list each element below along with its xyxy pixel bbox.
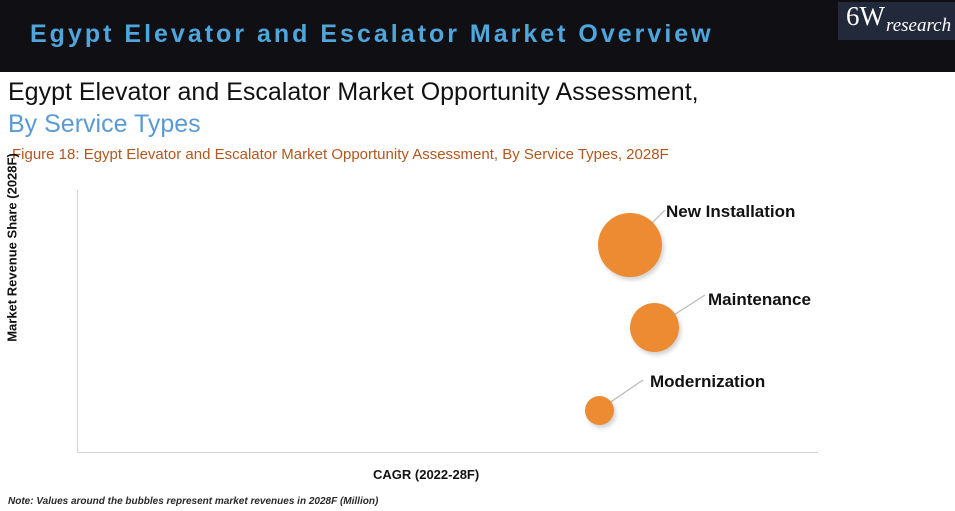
logo-6w-research: 6W research: [838, 2, 955, 40]
y-axis-line: [77, 190, 78, 452]
page-title: Egypt Elevator and Escalator Market Over…: [30, 20, 714, 49]
x-axis-title: CAGR (2022-28F): [373, 467, 479, 482]
header-bar: Egypt Elevator and Escalator Market Over…: [0, 0, 955, 72]
figure-caption: Figure 18: Egypt Elevator and Escalator …: [12, 146, 669, 163]
label-modernization: Modernization: [650, 372, 765, 392]
x-axis-line: [77, 452, 818, 453]
bubble-new-installation[interactable]: [598, 213, 662, 277]
leader-lines: [77, 190, 818, 453]
chart-note: Note: Values around the bubbles represen…: [8, 496, 378, 507]
report-title-line2: By Service Types: [8, 110, 201, 139]
bubble-maintenance[interactable]: [630, 303, 679, 352]
label-maintenance: Maintenance: [708, 290, 811, 310]
logo-mark: 6W: [846, 2, 885, 31]
label-new-installation: New Installation: [666, 202, 795, 222]
bubble-modernization[interactable]: [585, 396, 614, 425]
bubble-chart-plot-area: [77, 190, 818, 453]
report-title-line1: Egypt Elevator and Escalator Market Oppo…: [8, 78, 699, 107]
logo-wordmark: research: [886, 15, 951, 37]
y-axis-title: Market Revenue Share (2028F): [5, 128, 20, 368]
